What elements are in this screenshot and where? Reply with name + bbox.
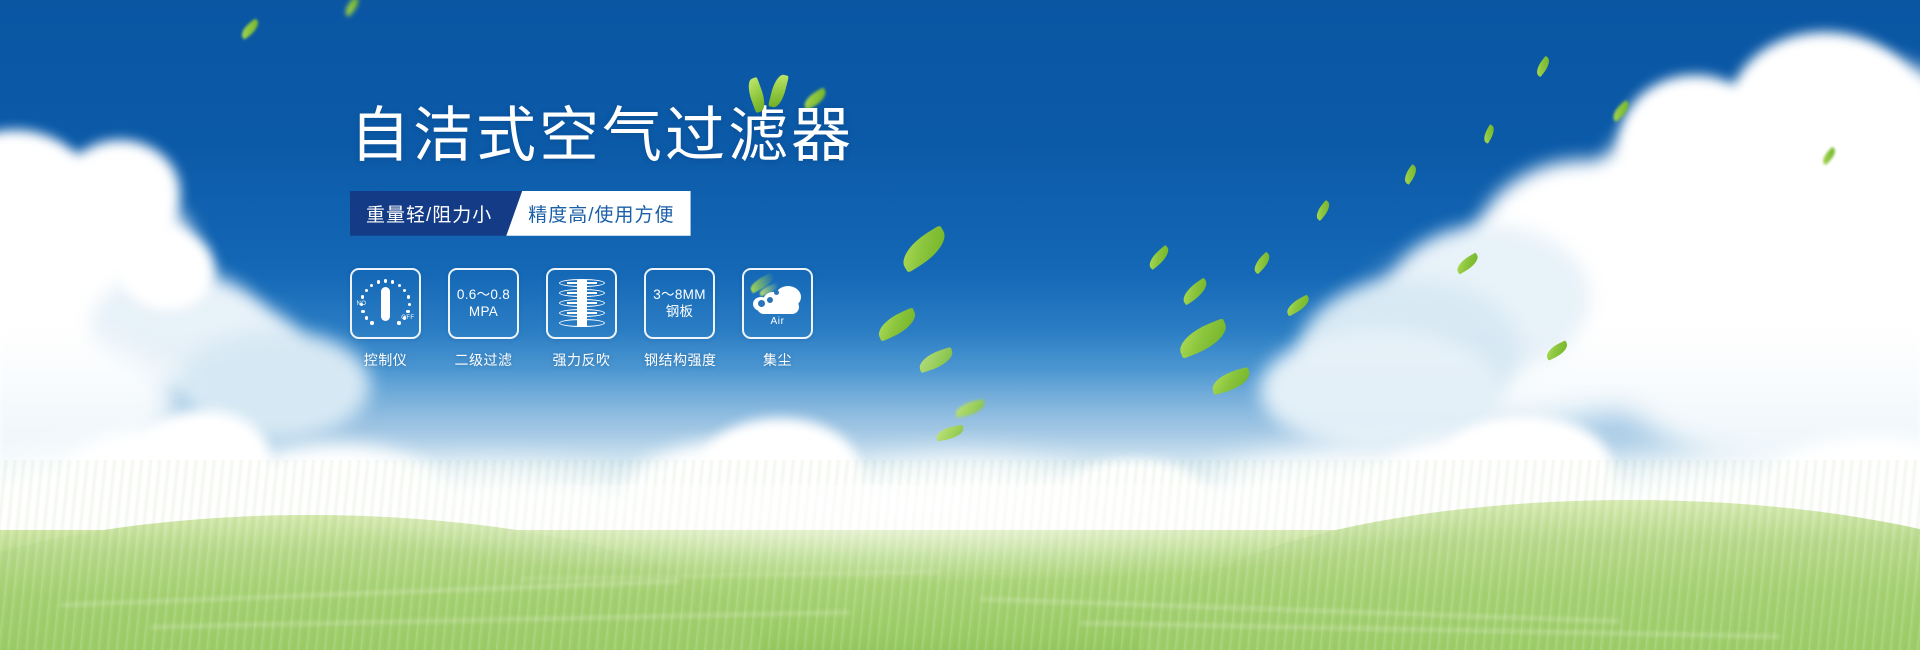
control-gauge-icon: NO OFF: [356, 273, 416, 333]
feature-box-steel: 3～8MM 钢板: [644, 268, 715, 339]
feature-box-control: NO OFF: [350, 268, 421, 339]
feature-caption-steel: 钢结构强度: [644, 350, 715, 370]
feature-item-control[interactable]: NO OFF 控制仪: [350, 268, 421, 370]
feature-caption-backflush: 强力反吹: [546, 350, 617, 370]
tag-weight-resistance: 重量轻/阻力小: [350, 191, 522, 236]
feature-item-steel[interactable]: 3～8MM 钢板 钢结构强度: [644, 268, 715, 370]
feature-item-pressure[interactable]: 0.6～0.8 MPA 二级过滤: [448, 268, 519, 370]
tag-precision-convenience: 精度高/使用方便: [506, 191, 690, 236]
feature-caption-pressure: 二级过滤: [448, 350, 519, 370]
feature-icon-row: NO OFF 控制仪 0.6～0.8 MPA 二级过滤: [350, 268, 1110, 370]
steel-material: 钢板: [653, 303, 706, 320]
feature-item-backflush[interactable]: 强力反吹: [546, 268, 617, 370]
feature-box-backflush: [546, 268, 617, 339]
feature-caption-control: 控制仪: [350, 350, 421, 370]
title-block: 自洁式空气过滤器: [350, 104, 854, 169]
air-label: Air: [751, 316, 805, 327]
feature-box-dust: Air: [742, 268, 813, 339]
gauge-label-off: OFF: [401, 315, 414, 321]
leaf-sprout-icon: [748, 72, 798, 114]
gauge-label-no: NO: [357, 301, 367, 307]
feature-box-pressure: 0.6～0.8 MPA: [448, 268, 519, 339]
banner-content: 自洁式空气过滤器 重量轻/阻力小 精度高/使用方便: [350, 104, 1110, 370]
air-cloud-icon: Air: [751, 280, 805, 326]
filter-coil-icon: [559, 278, 605, 328]
product-banner: 自洁式空气过滤器 重量轻/阻力小 精度高/使用方便: [0, 0, 1920, 650]
grass-field: [0, 460, 1920, 650]
steel-plate-text-icon: 3～8MM 钢板: [653, 286, 706, 321]
steel-thickness: 3～8MM: [653, 286, 706, 303]
pressure-text-icon: 0.6～0.8 MPA: [457, 286, 510, 321]
feature-caption-dust: 集尘: [742, 350, 813, 370]
pressure-value: 0.6～0.8: [457, 286, 510, 303]
pressure-unit: MPA: [457, 303, 510, 320]
feature-item-dust[interactable]: Air 集尘: [742, 268, 813, 370]
feature-tags: 重量轻/阻力小 精度高/使用方便: [350, 191, 670, 236]
